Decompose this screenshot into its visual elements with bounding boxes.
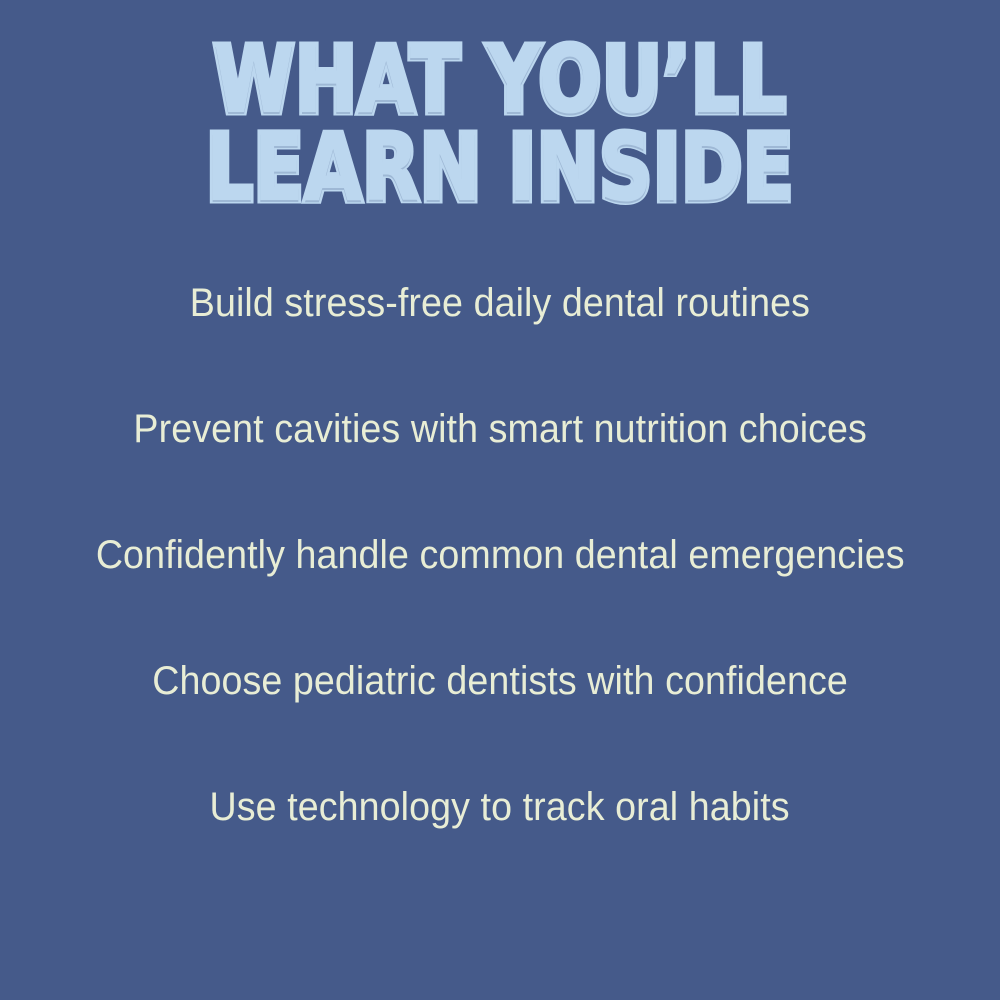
list-item-label: Build stress-free daily dental routines	[190, 279, 810, 327]
page-title-line-1: WHAT YOU’LL	[100, 45, 900, 117]
page-title-line-2: LEARN INSIDE	[100, 133, 900, 205]
list-item-label: Prevent cavities with smart nutrition ch…	[133, 405, 867, 453]
list-item: Choose pediatric dentists with confidenc…	[0, 657, 1000, 705]
list-item: Prevent cavities with smart nutrition ch…	[0, 405, 1000, 453]
poster-canvas: WHAT YOU’LL LEARN INSIDE Build stress-fr…	[0, 0, 1000, 1000]
learning-points-list: Build stress-free daily dental routines …	[0, 279, 1000, 831]
list-item: Confidently handle common dental emergen…	[0, 531, 1000, 579]
list-item: Use technology to track oral habits	[0, 783, 1000, 831]
page-title: WHAT YOU’LL LEARN INSIDE	[0, 0, 1000, 205]
list-item-label: Use technology to track oral habits	[210, 783, 790, 831]
list-item: Build stress-free daily dental routines	[0, 279, 1000, 327]
list-item-label: Confidently handle common dental emergen…	[96, 531, 905, 579]
list-item-label: Choose pediatric dentists with confidenc…	[152, 657, 848, 705]
